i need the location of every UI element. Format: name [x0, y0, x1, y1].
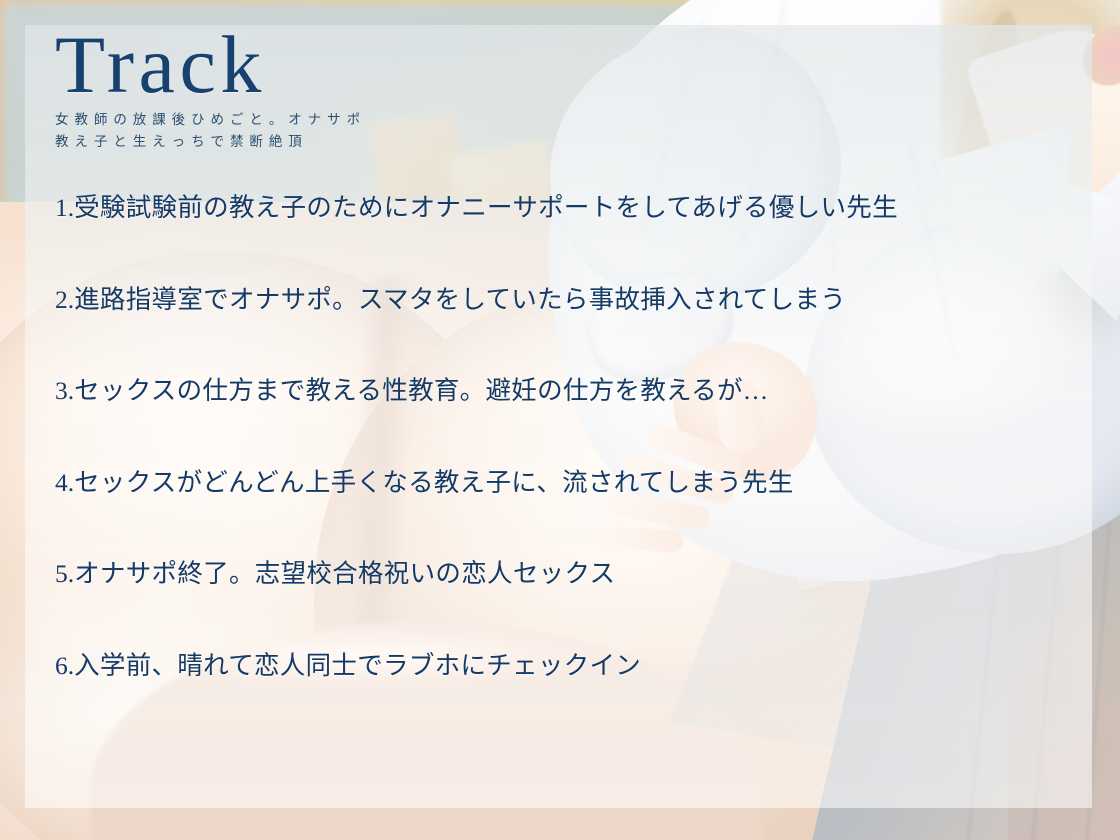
track-number: 3. [55, 376, 74, 405]
subtitle-line-2: 教え子と生えっちで禁断絶頂 [55, 131, 1055, 153]
track-number: 5. [55, 559, 74, 588]
subtitle-block: 女教師の放課後ひめごと。オナサポ 教え子と生えっちで禁断絶頂 [55, 109, 1055, 153]
track-label: 受験試験前の教え子のためにオナニーサポートをしてあげる優しい先生 [74, 193, 898, 222]
track-number: 4. [55, 468, 74, 497]
track-label: セックスの仕方まで教える性教育。避妊の仕方を教えるが… [74, 376, 768, 405]
track-label: 進路指導室でオナサポ。スマタをしていたら事故挿入されてしまう [74, 285, 846, 314]
promo-card: Track 女教師の放課後ひめごと。オナサポ 教え子と生えっちで禁断絶頂 1.受… [0, 0, 1120, 840]
track-number: 1. [55, 193, 74, 222]
track-number: 6. [55, 651, 74, 680]
track-item-5: 5.オナサポ終了。志望校合格祝いの恋人セックス [55, 561, 1055, 587]
subtitle-line-1: 女教師の放課後ひめごと。オナサポ [55, 109, 1055, 131]
track-item-1: 1.受験試験前の教え子のためにオナニーサポートをしてあげる優しい先生 [55, 195, 1055, 221]
track-label: セックスがどんどん上手くなる教え子に、流されてしまう先生 [74, 468, 794, 497]
track-item-3: 3.セックスの仕方まで教える性教育。避妊の仕方を教えるが… [55, 378, 1055, 404]
tracklist: 1.受験試験前の教え子のためにオナニーサポートをしてあげる優しい先生 2.進路指… [55, 195, 1055, 678]
track-label: オナサポ終了。志望校合格祝いの恋人セックス [74, 559, 615, 588]
track-item-2: 2.進路指導室でオナサポ。スマタをしていたら事故挿入されてしまう [55, 287, 1055, 313]
track-item-4: 4.セックスがどんどん上手くなる教え子に、流されてしまう先生 [55, 470, 1055, 496]
track-number: 2. [55, 285, 74, 314]
track-item-6: 6.入学前、晴れて恋人同士でラブホにチェックイン [55, 653, 1055, 679]
track-label: 入学前、晴れて恋人同士でラブホにチェックイン [74, 651, 641, 680]
page-title: Track [55, 25, 1055, 105]
content-area: Track 女教師の放課後ひめごと。オナサポ 教え子と生えっちで禁断絶頂 1.受… [55, 25, 1055, 678]
